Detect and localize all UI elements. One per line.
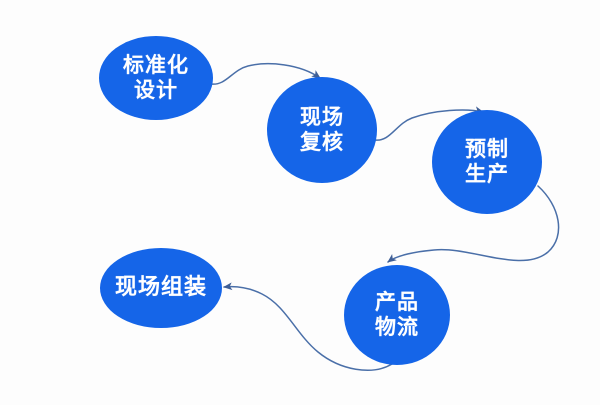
node-prefab-production-label: 预制 生产 <box>465 137 509 187</box>
node-site-review[interactable]: 现场 复核 <box>267 77 377 183</box>
process-flow-diagram: 标准化 设计 现场 复核 预制 生产 产品 物流 现场组装 <box>0 0 600 405</box>
node-site-review-label: 现场 复核 <box>300 105 344 155</box>
node-product-logistics[interactable]: 产品 物流 <box>344 265 450 365</box>
node-standard-design-label: 标准化 设计 <box>123 53 189 103</box>
node-product-logistics-label: 产品 物流 <box>375 290 419 340</box>
node-standard-design[interactable]: 标准化 设计 <box>99 36 213 120</box>
node-site-assembly-label: 现场组装 <box>115 275 207 301</box>
node-site-assembly[interactable]: 现场组装 <box>100 248 222 328</box>
node-prefab-production[interactable]: 预制 生产 <box>432 110 542 214</box>
